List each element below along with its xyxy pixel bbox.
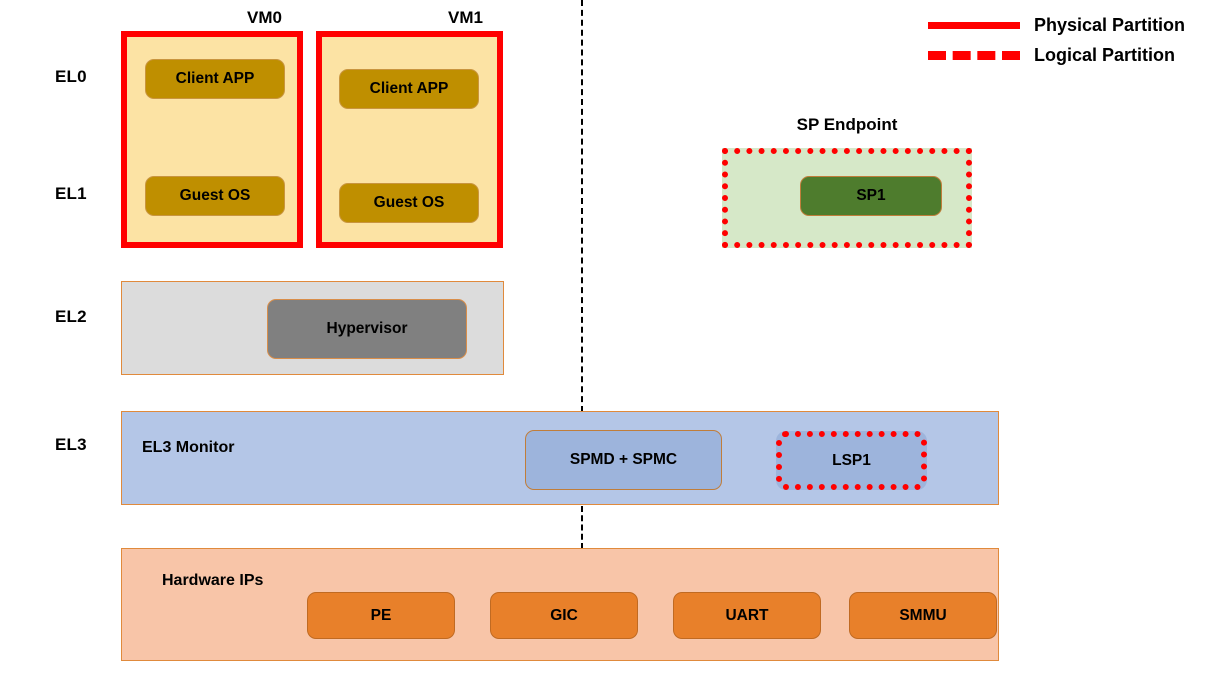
vm1-guest-os[interactable]: Guest OS — [339, 183, 479, 223]
sp1-box[interactable]: SP1 — [800, 176, 942, 216]
dashed-line-icon — [928, 51, 1020, 60]
legend-item-logical: Logical Partition — [928, 40, 1210, 70]
world-divider-upper — [581, 0, 583, 412]
legend-label-logical: Logical Partition — [1034, 45, 1175, 66]
sp-endpoint-logical-partition[interactable]: SP1 — [722, 148, 972, 248]
vm0-guest-os[interactable]: Guest OS — [145, 176, 285, 216]
legend-label-physical: Physical Partition — [1034, 15, 1185, 36]
exception-level-label-el0: EL0 — [55, 67, 87, 87]
hypervisor-box[interactable]: Hypervisor — [267, 299, 467, 359]
sp-endpoint-title: SP Endpoint — [722, 115, 972, 135]
vm0-client-app[interactable]: Client APP — [145, 59, 285, 99]
legend: Physical Partition Logical Partition — [928, 10, 1210, 72]
solid-line-icon — [928, 22, 1020, 29]
vm0-title: VM0 — [182, 8, 282, 28]
vm1-title: VM1 — [383, 8, 483, 28]
hardware-ip-pe[interactable]: PE — [307, 592, 455, 639]
legend-item-physical: Physical Partition — [928, 10, 1210, 40]
el3-monitor-title: EL3 Monitor — [142, 439, 234, 457]
hardware-band: Hardware IPs PE GIC UART SMMU — [121, 548, 999, 661]
hardware-ip-smmu[interactable]: SMMU — [849, 592, 997, 639]
vm0-physical-partition[interactable]: Client APP Guest OS — [121, 31, 303, 248]
hardware-ips-title: Hardware IPs — [162, 572, 263, 590]
exception-level-label-el1: EL1 — [55, 184, 87, 204]
exception-level-label-el3: EL3 — [55, 435, 87, 455]
spmd-spmc-box[interactable]: SPMD + SPMC — [525, 430, 722, 490]
architecture-diagram: Physical Partition Logical Partition EL0… — [0, 0, 1220, 696]
hardware-ip-gic[interactable]: GIC — [490, 592, 638, 639]
vm1-physical-partition[interactable]: Client APP Guest OS — [316, 31, 503, 248]
exception-level-label-el2: EL2 — [55, 307, 87, 327]
el2-band: Hypervisor — [121, 281, 504, 375]
lsp1-logical-partition[interactable]: LSP1 — [776, 431, 927, 490]
el3-band: EL3 Monitor SPMD + SPMC LSP1 — [121, 411, 999, 505]
vm1-client-app[interactable]: Client APP — [339, 69, 479, 109]
world-divider-lower — [581, 506, 583, 549]
hardware-ip-uart[interactable]: UART — [673, 592, 821, 639]
